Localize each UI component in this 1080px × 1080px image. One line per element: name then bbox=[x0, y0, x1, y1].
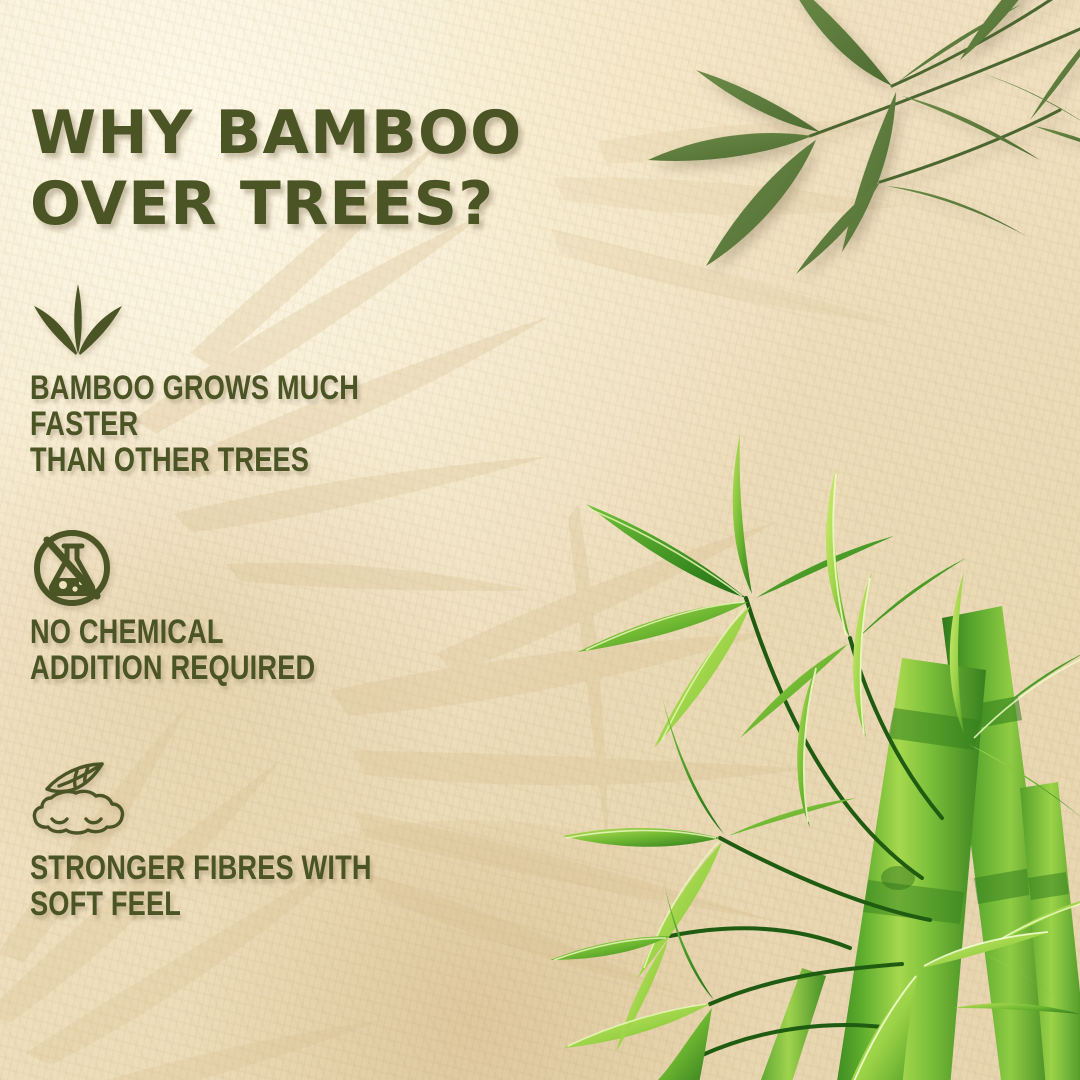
bamboo-leaves-icon bbox=[30, 282, 510, 356]
bamboo-stalks-bottom-right bbox=[550, 408, 1080, 1080]
watermark-leaf-cluster bbox=[469, 0, 1031, 507]
poster-canvas: Why Bamboo Over Trees? Bamboo grows much… bbox=[0, 0, 1080, 1080]
feature-item-soft-fibre: Stronger fibres with soft feel bbox=[30, 762, 510, 922]
page-title: Why Bamboo Over Trees? bbox=[30, 98, 690, 240]
feature-item-no-chemicals: No chemical addition required bbox=[30, 526, 510, 686]
bamboo-branch-top-right bbox=[630, 0, 1080, 300]
feature-label: Bamboo grows much faster than other tree… bbox=[30, 370, 414, 478]
feather-on-cloud-icon bbox=[30, 762, 510, 836]
feature-label: No chemical addition required bbox=[30, 614, 414, 686]
no-chemicals-flask-icon bbox=[30, 526, 510, 600]
watermark-leaf-cluster bbox=[264, 390, 956, 1031]
feature-item-growth: Bamboo grows much faster than other tree… bbox=[30, 282, 510, 478]
feature-label: Stronger fibres with soft feel bbox=[30, 850, 414, 922]
